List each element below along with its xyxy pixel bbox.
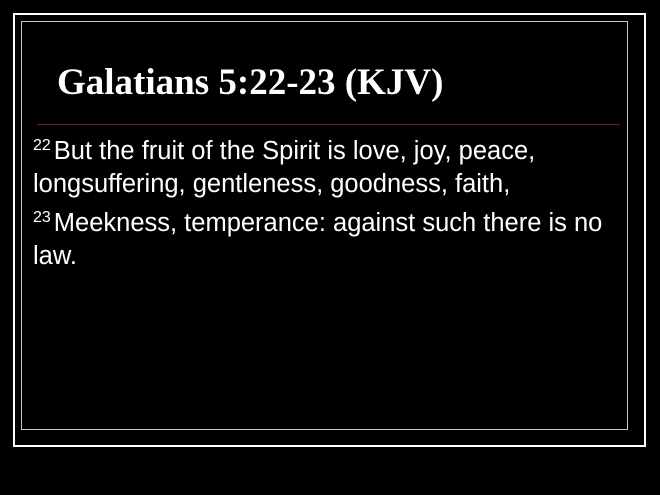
verse-paragraph: 23Meekness, temperance: against such the… [33,207,616,273]
slide-content-area: Galatians 5:22-23 (KJV) 22But the fruit … [33,33,623,419]
verse-text: Meekness, temperance: against such there… [33,209,602,270]
verse-paragraph: 22But the fruit of the Spirit is love, j… [33,135,616,201]
scripture-body: 22But the fruit of the Spirit is love, j… [33,135,616,279]
verse-number: 22 [33,137,54,154]
title-divider-rule [37,124,620,125]
verse-number: 23 [33,209,54,226]
presentation-slide: Galatians 5:22-23 (KJV) 22But the fruit … [0,0,660,495]
slide-title: Galatians 5:22-23 (KJV) [57,61,443,105]
verse-text: But the fruit of the Spirit is love, joy… [33,137,535,198]
